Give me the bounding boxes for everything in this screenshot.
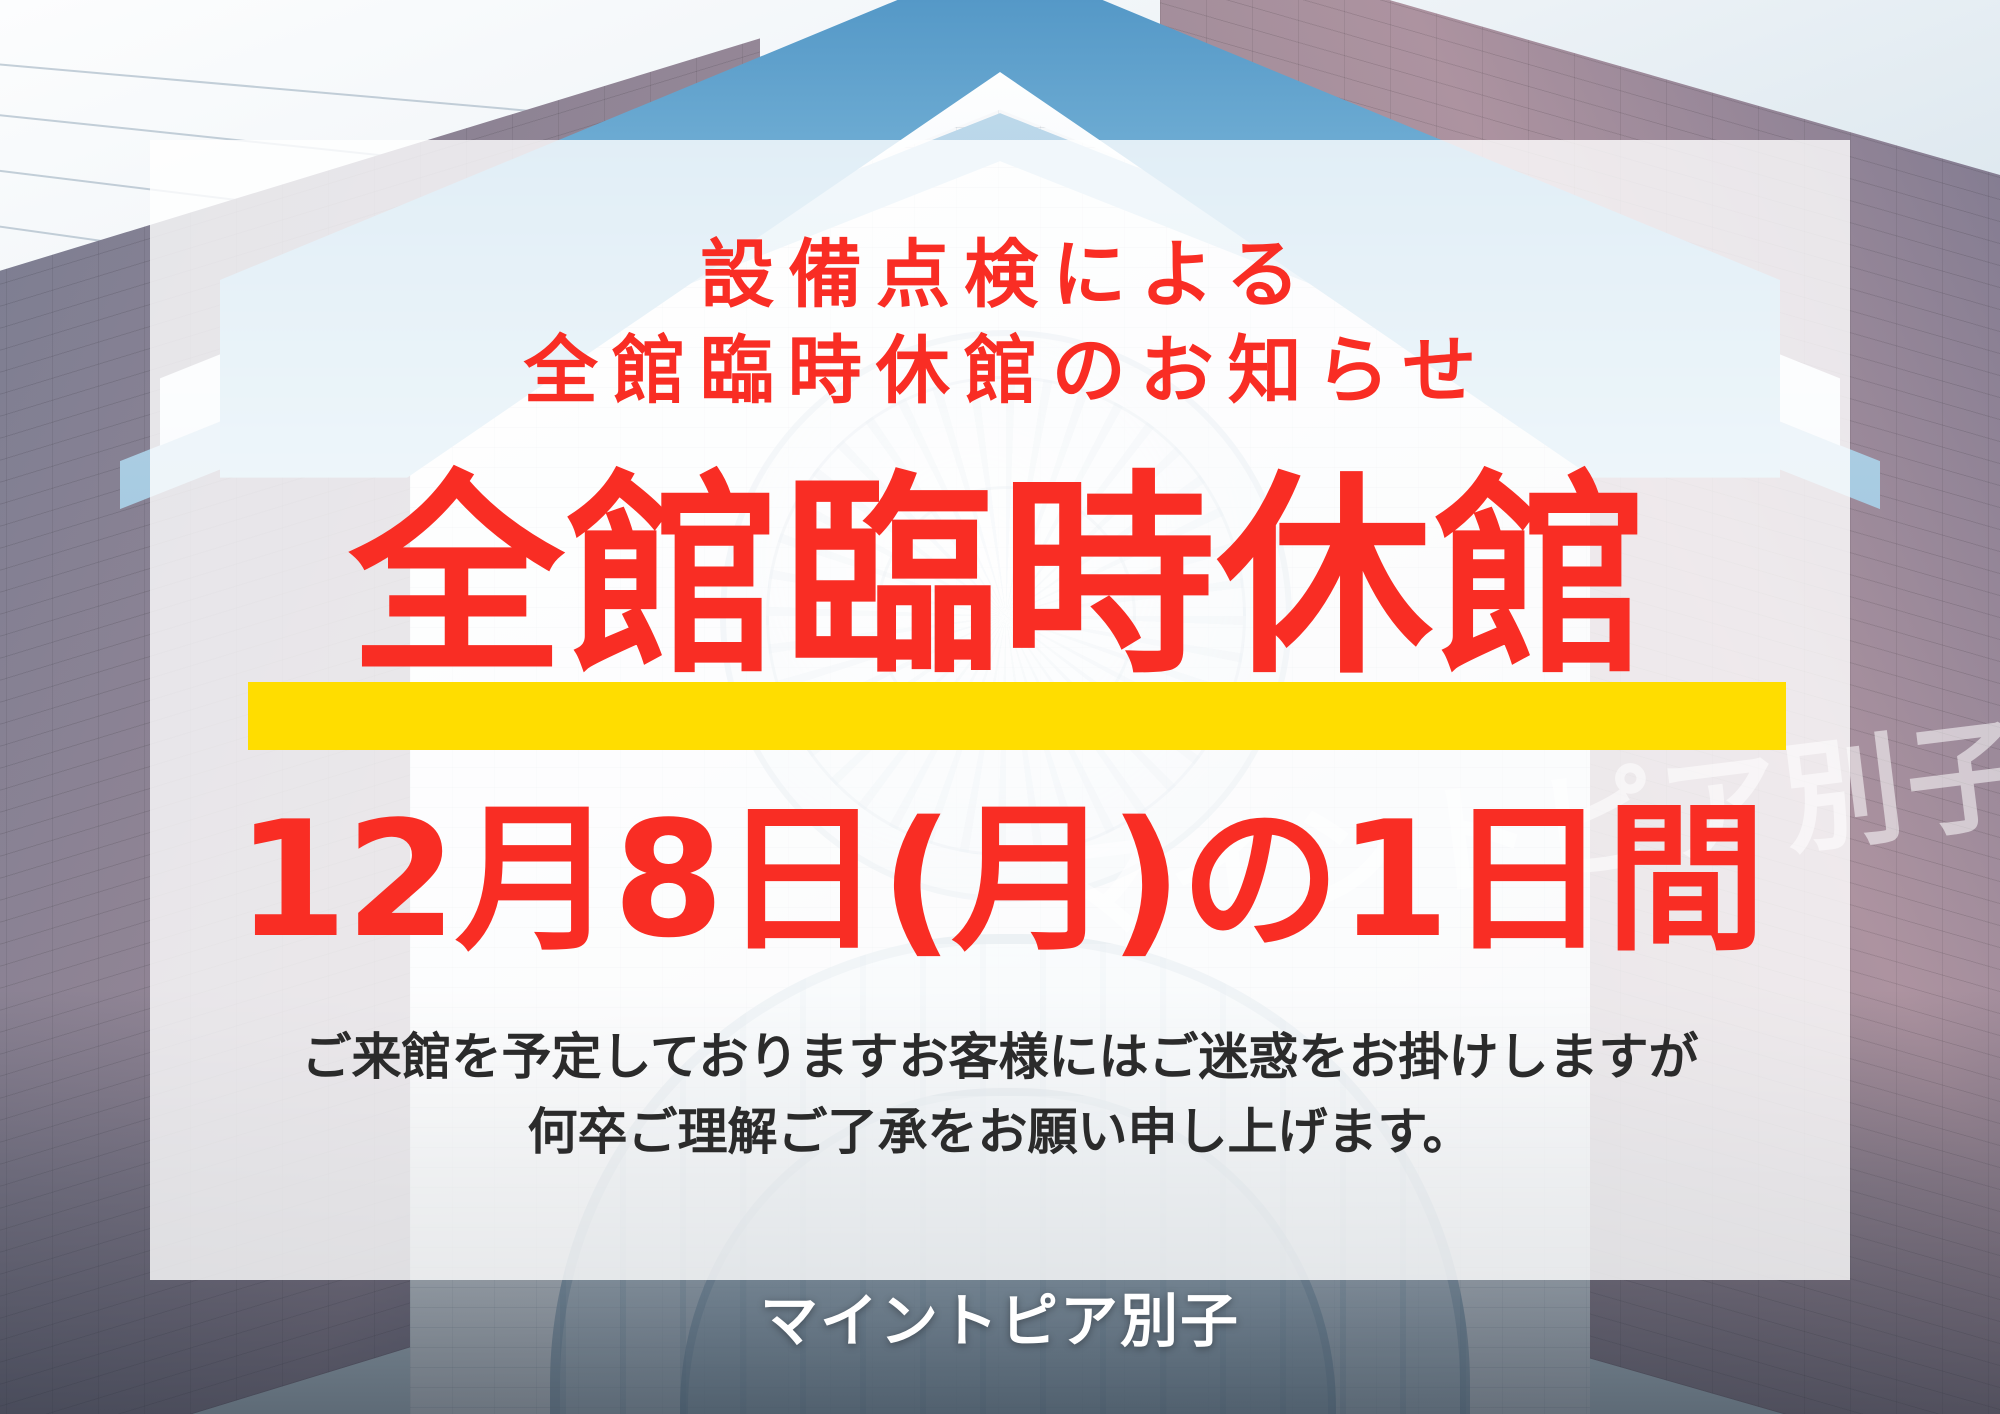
main-title-block: 全館臨時休館 (0, 470, 2000, 700)
body-line-1: ご来館を予定しておりますお客様にはご迷惑をお掛けしますが (0, 1020, 2000, 1095)
main-title: 全館臨時休館 (0, 470, 2000, 685)
body-paragraph: ご来館を予定しておりますお客様にはご迷惑をお掛けしますが 何卒ご理解ご了承をお願… (0, 1020, 2000, 1170)
venue-name: マイントピア別子 (0, 1274, 2000, 1358)
subheading-line-2: 全館臨時休館のお知らせ (0, 328, 2000, 415)
body-line-2: 何卒ご理解ご了承をお願い申し上げます。 (0, 1095, 2000, 1170)
announcement-poster: マイントピア別子 設備点検による 全館臨時休館のお知らせ 全館臨時休館 12月8… (0, 0, 2000, 1414)
subheading-line-1: 設備点検による (0, 232, 2000, 319)
closure-date: 12月8日(月)の1日間 (0, 800, 2000, 960)
